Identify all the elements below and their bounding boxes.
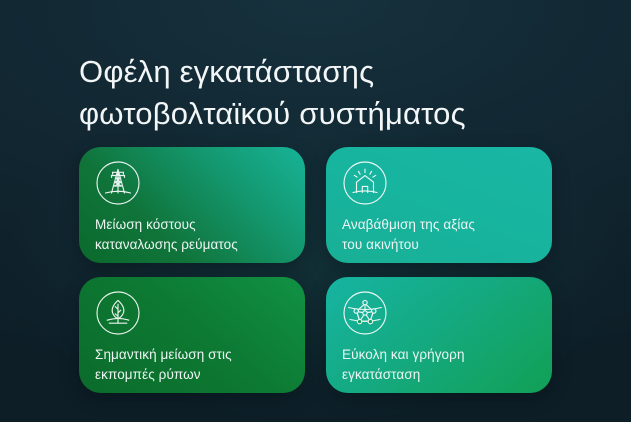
page-title: Οφέλη εγκατάστασης φωτοβολταϊκού συστήμα… xyxy=(79,51,599,135)
benefits-grid: Μείωση κόστους καταναλωσης ρεύματος Αναβ… xyxy=(79,147,552,393)
benefit-card-property-value[interactable]: Αναβάθμιση της αξίας του ακινήτου xyxy=(326,147,552,263)
benefit-card-emissions-reduction[interactable]: Σημαντική μείωση στις εκπομπές ρύπων xyxy=(79,277,305,393)
benefit-card-label: Σημαντική μείωση στις εκπομπές ρύπων xyxy=(95,345,293,385)
house-sunrays-icon xyxy=(342,160,388,206)
power-pylon-icon xyxy=(95,160,141,206)
slide-canvas: Οφέλη εγκατάστασης φωτοβολταϊκού συστήμα… xyxy=(0,0,631,422)
benefit-card-easy-installation[interactable]: Εύκολη και γρήγορη εγκατάσταση xyxy=(326,277,552,393)
leaf-sprout-icon xyxy=(95,290,141,336)
benefit-card-label: Αναβάθμιση της αξίας του ακινήτου xyxy=(342,215,540,255)
benefit-card-label: Εύκολη και γρήγορη εγκατάσταση xyxy=(342,345,540,385)
network-nodes-icon xyxy=(342,290,388,336)
benefit-card-label: Μείωση κόστους καταναλωσης ρεύματος xyxy=(95,215,293,255)
benefit-card-cost-reduction[interactable]: Μείωση κόστους καταναλωσης ρεύματος xyxy=(79,147,305,263)
